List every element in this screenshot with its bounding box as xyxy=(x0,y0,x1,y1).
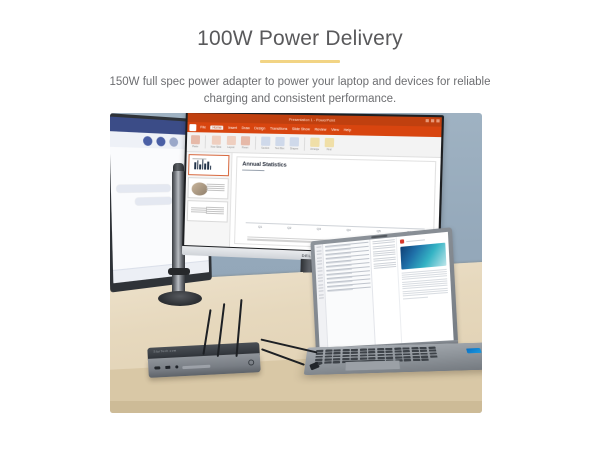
chart-bar-group xyxy=(246,175,426,229)
tab-design[interactable]: Design xyxy=(254,126,265,130)
toolbar-separator xyxy=(255,136,256,149)
monitor-arm-base xyxy=(158,291,202,306)
chart-label: Q1 xyxy=(258,224,262,228)
edit-icon[interactable] xyxy=(169,137,178,147)
header: 100W Power Delivery 150W full spec power… xyxy=(0,0,600,109)
mail-body-text xyxy=(402,268,448,299)
powerpoint-title-text: Presentation 1 - PowerPoint xyxy=(289,117,335,122)
reset-button[interactable]: Reset xyxy=(240,136,249,149)
window-controls[interactable] xyxy=(426,119,440,122)
page-title: 100W Power Delivery xyxy=(0,27,600,50)
product-feature-card: 100W Power Delivery 150W full spec power… xyxy=(0,0,600,450)
chart-label: Q2 xyxy=(287,225,291,229)
chat-bubble xyxy=(116,184,170,192)
usb-c-port[interactable] xyxy=(165,366,170,368)
dock-front-ports[interactable] xyxy=(154,365,178,369)
thumb-chart-icon xyxy=(194,159,211,169)
section-button[interactable]: Section xyxy=(261,137,271,150)
mail-client xyxy=(314,232,453,348)
tab-help[interactable]: Help xyxy=(344,128,352,132)
ribbon-tab-list[interactable]: File Home Insert Draw Design Transitions… xyxy=(200,125,351,132)
thumb-text-lines xyxy=(206,184,224,193)
laptop-screen xyxy=(314,232,453,348)
tab-file[interactable]: File xyxy=(200,125,206,129)
laptop-lid: DELL xyxy=(310,227,458,353)
layout-button[interactable]: Layout xyxy=(226,136,235,149)
tab-slide-show[interactable]: Slide Show xyxy=(292,127,310,131)
powerpoint-logo-icon xyxy=(189,124,196,131)
mail-reading-pane xyxy=(397,232,454,343)
floor xyxy=(110,401,482,413)
find-button[interactable]: Find xyxy=(324,138,334,152)
thumb-text-lines xyxy=(191,207,207,214)
slide-thumbnail-1[interactable] xyxy=(188,154,229,176)
video-icon[interactable] xyxy=(142,135,152,145)
product-photo: — □ ✕ xyxy=(110,113,482,413)
dock-model-label xyxy=(182,365,210,369)
tab-draw[interactable]: Draw xyxy=(241,126,249,130)
chart-label: Q5 xyxy=(377,228,381,232)
thumb-text-lines xyxy=(206,207,224,216)
slide-thumbnail-panel[interactable] xyxy=(184,152,232,247)
mail-message-list[interactable] xyxy=(323,239,376,347)
laptop-trackpad[interactable] xyxy=(345,360,400,370)
monitor-arm-joint xyxy=(168,268,190,275)
shapes-button[interactable]: Shapes xyxy=(289,137,299,150)
tab-home[interactable]: Home xyxy=(210,125,223,129)
thumb-image-icon xyxy=(191,182,207,196)
tab-transitions[interactable]: Transitions xyxy=(270,127,287,131)
chat-bubble xyxy=(135,197,172,206)
slide-title: Annual Statistics xyxy=(242,161,429,172)
mail-hero-image xyxy=(400,242,446,269)
title-divider xyxy=(260,60,340,63)
new-slide-button[interactable]: New Slide xyxy=(211,136,222,149)
dock-brand-logo: StarTech.com xyxy=(153,348,176,353)
tab-insert[interactable]: Insert xyxy=(228,126,237,130)
chart-label: Q3 xyxy=(317,226,321,230)
laptop: DELL xyxy=(308,241,482,401)
brand-mark-icon xyxy=(400,239,404,244)
audio-jack-icon[interactable] xyxy=(175,365,178,368)
slide-title-rule xyxy=(242,170,264,172)
tab-review[interactable]: Review xyxy=(315,127,327,131)
toolbar-separator xyxy=(304,137,305,150)
intel-sticker xyxy=(466,348,482,353)
page-subtitle: 150W full spec power adapter to power yo… xyxy=(0,74,600,110)
chart-label: Q4 xyxy=(346,227,350,231)
slide-thumbnail-2[interactable] xyxy=(187,177,228,199)
tab-view[interactable]: View xyxy=(331,128,339,132)
power-icon[interactable] xyxy=(248,359,254,365)
slide-thumbnail-3[interactable] xyxy=(187,200,228,222)
slide-chart: Q1 Q2 Q3 Q4 Q5 Q6 xyxy=(246,174,427,236)
arrange-button[interactable]: Arrange xyxy=(310,138,320,151)
paste-button[interactable]: Paste xyxy=(191,135,200,148)
toolbar-separator xyxy=(205,135,206,148)
laptop-base xyxy=(304,343,482,376)
usb-c-port[interactable] xyxy=(154,367,160,370)
clock-icon[interactable] xyxy=(156,136,165,146)
text-box-button[interactable]: Text Box xyxy=(275,137,285,150)
